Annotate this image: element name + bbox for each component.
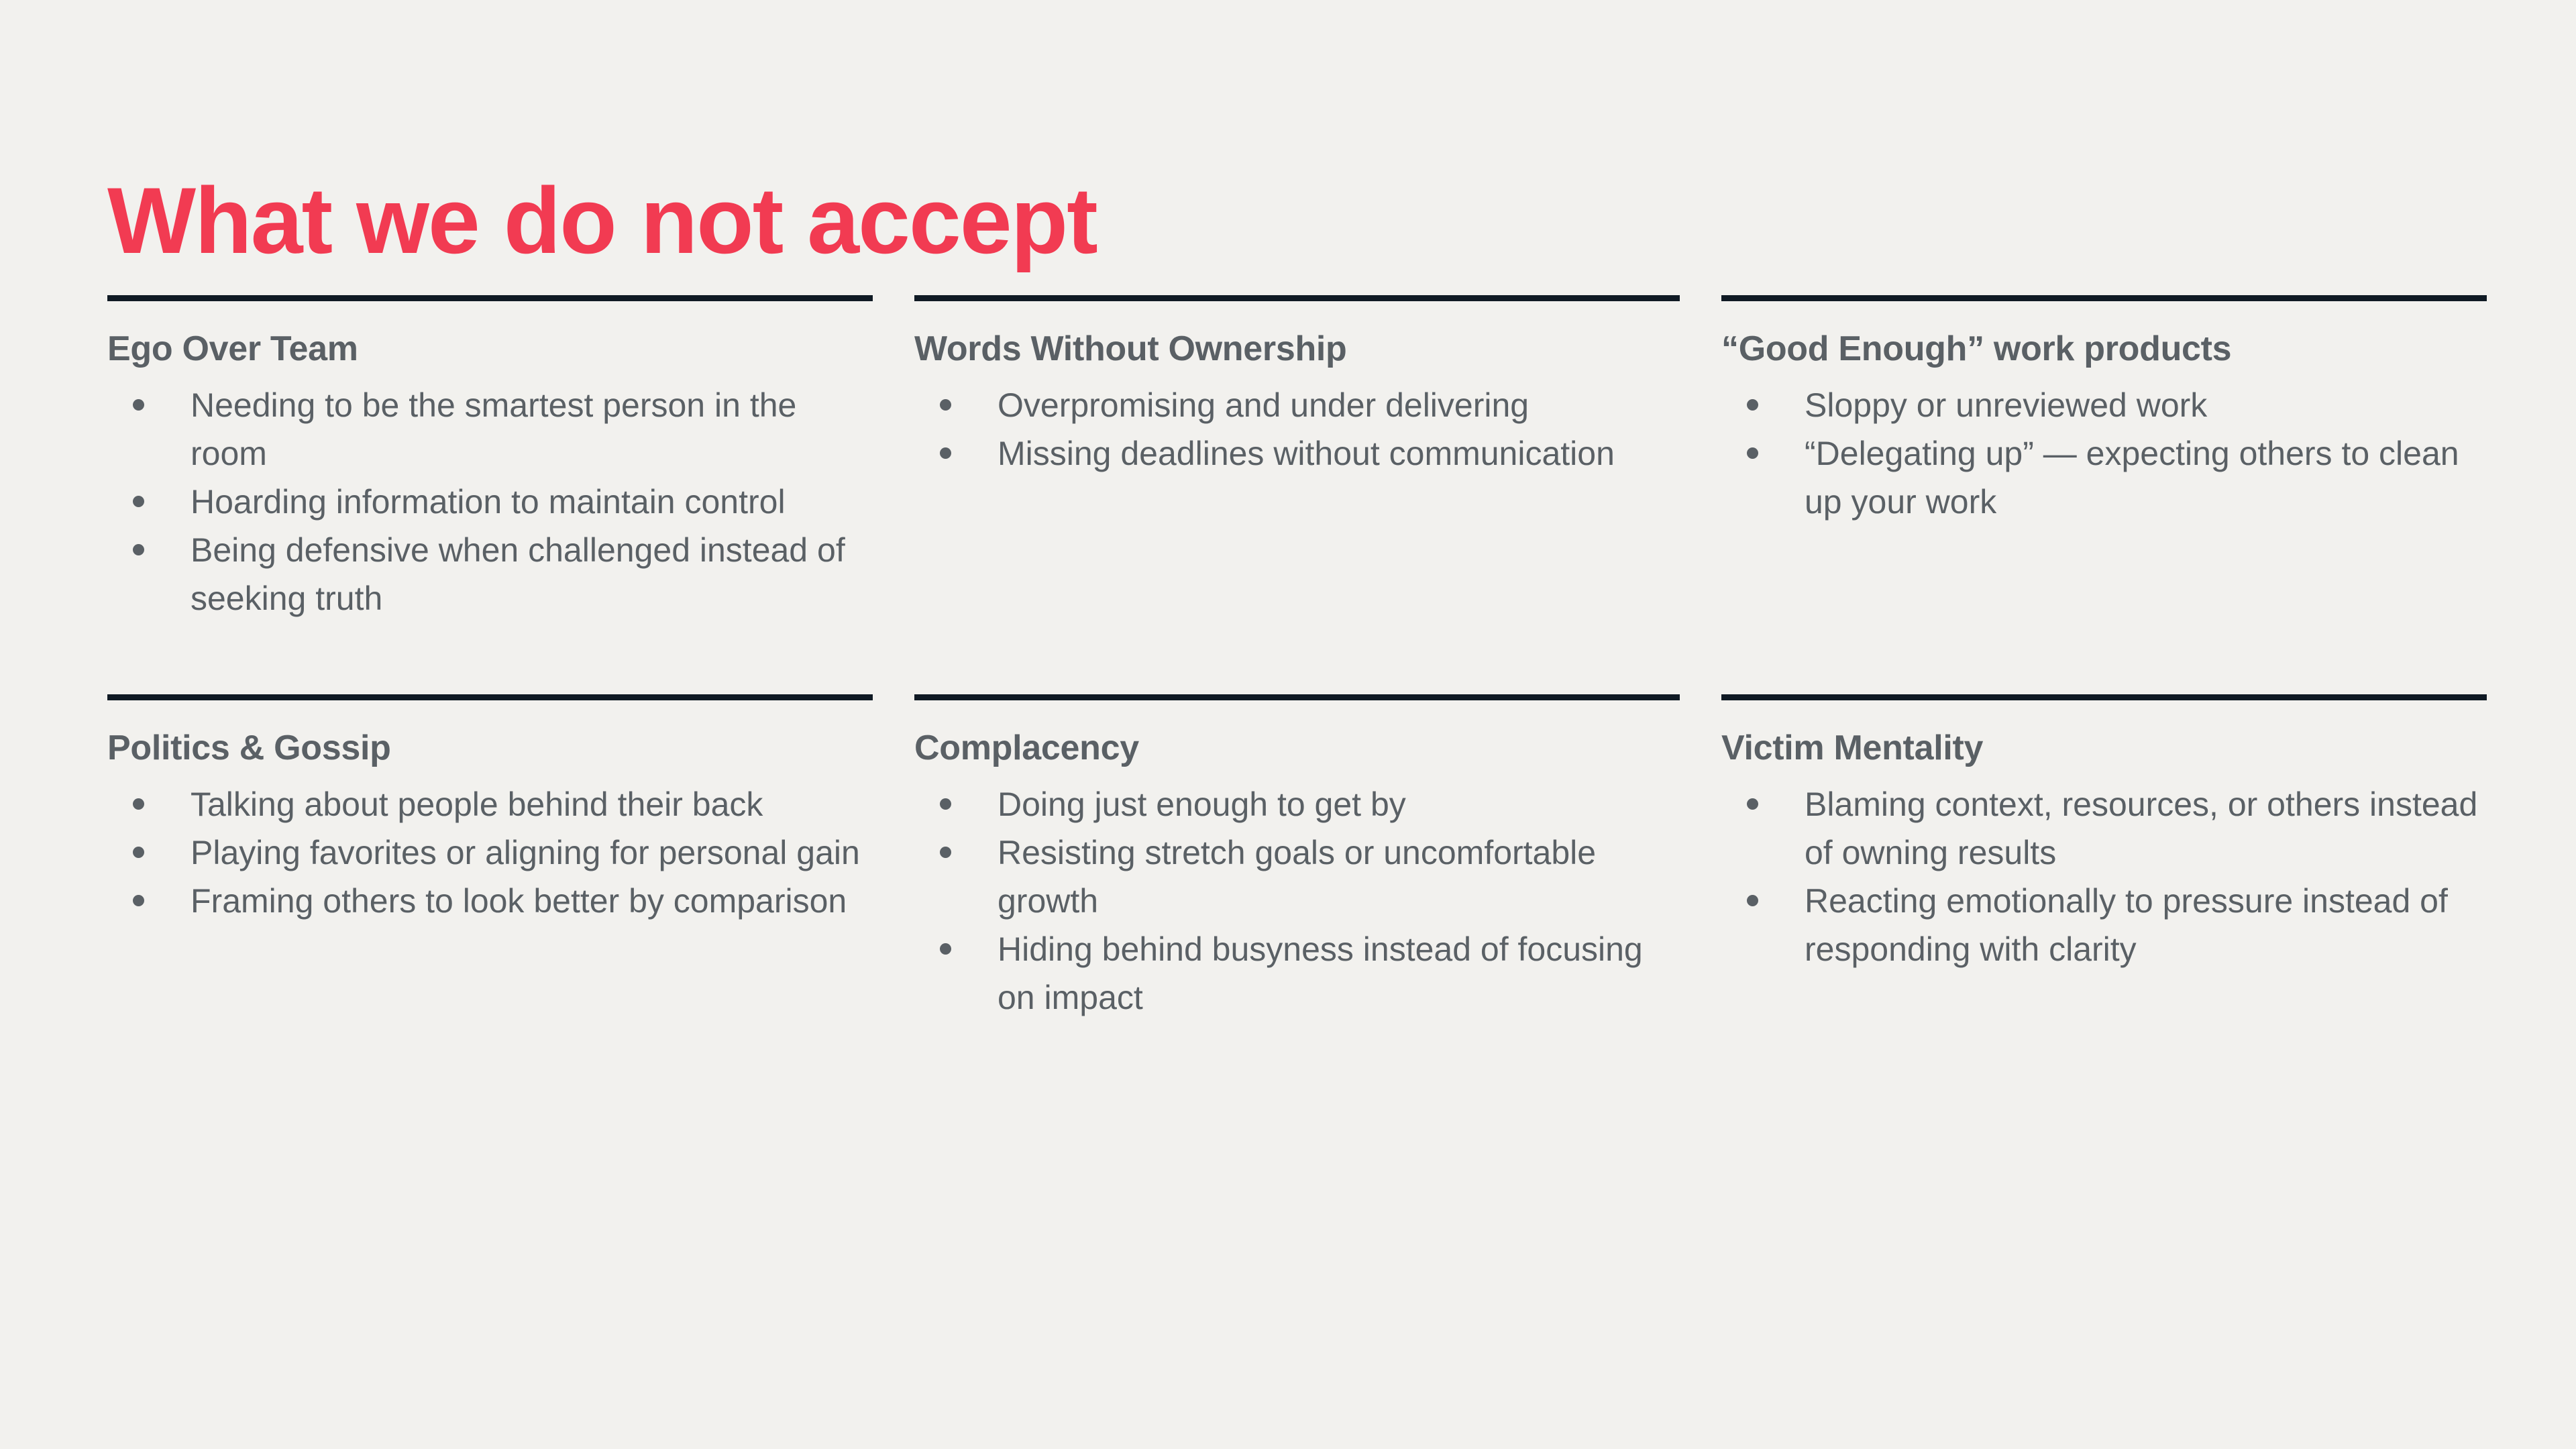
bullet-list: Overpromising and under delivering Missi… (914, 381, 1680, 478)
bullet-list: Needing to be the smartest person in the… (107, 381, 873, 623)
card-rule (914, 295, 1680, 301)
bullet-dot-icon (133, 895, 144, 906)
bullet-dot-icon (133, 847, 144, 858)
bullet-dot-icon (133, 544, 144, 555)
list-item: Doing just enough to get by (914, 780, 1680, 828)
list-item-text: Playing favorites or aligning for person… (191, 834, 860, 871)
list-item-text: Reacting emotionally to pressure instead… (1805, 882, 2448, 968)
slide-root: What we do not accept Ego Over Team Need… (0, 0, 2576, 1449)
list-item: Hoarding information to maintain control (107, 478, 873, 526)
page-title: What we do not accept (107, 174, 1097, 268)
card-heading: Words Without Ownership (914, 331, 1680, 368)
bullet-list: Talking about people behind their back P… (107, 780, 873, 925)
list-item: Needing to be the smartest person in the… (107, 381, 873, 478)
list-item: Missing deadlines without communication (914, 429, 1680, 478)
list-item: Blaming context, resources, or others in… (1721, 780, 2487, 877)
bullet-list: Blaming context, resources, or others in… (1721, 780, 2487, 973)
card-complacency: Complacency Doing just enough to get by … (914, 694, 1680, 1022)
card-victim-mentality: Victim Mentality Blaming context, resour… (1721, 694, 2487, 1022)
card-heading: “Good Enough” work products (1721, 331, 2487, 368)
card-ego-over-team: Ego Over Team Needing to be the smartest… (107, 295, 873, 623)
list-item-text: “Delegating up” — expecting others to cl… (1805, 435, 2459, 521)
bullet-list: Sloppy or unreviewed work “Delegating up… (1721, 381, 2487, 526)
list-item-text: Overpromising and under delivering (998, 386, 1529, 424)
bullet-dot-icon (1747, 798, 1758, 810)
card-good-enough-work-products: “Good Enough” work products Sloppy or un… (1721, 295, 2487, 623)
card-rule (107, 295, 873, 301)
bullet-dot-icon (940, 399, 951, 411)
bullet-dot-icon (133, 798, 144, 810)
list-item-text: Needing to be the smartest person in the… (191, 386, 796, 472)
bullet-dot-icon (133, 496, 144, 507)
bullet-dot-icon (1747, 895, 1758, 906)
card-rule (107, 694, 873, 700)
list-item-text: Talking about people behind their back (191, 786, 763, 823)
list-item: Playing favorites or aligning for person… (107, 828, 873, 877)
list-item: Framing others to look better by compari… (107, 877, 873, 925)
list-item-text: Hoarding information to maintain control (191, 483, 786, 521)
card-heading: Complacency (914, 730, 1680, 767)
list-item-text: Being defensive when challenged instead … (191, 531, 845, 617)
list-item-text: Blaming context, resources, or others in… (1805, 786, 2477, 871)
list-item: Overpromising and under delivering (914, 381, 1680, 429)
list-item: Talking about people behind their back (107, 780, 873, 828)
list-item-text: Sloppy or unreviewed work (1805, 386, 2207, 424)
list-item: Being defensive when challenged instead … (107, 526, 873, 623)
list-item-text: Resisting stretch goals or uncomfortable… (998, 834, 1596, 920)
bullet-dot-icon (940, 798, 951, 810)
bullet-dot-icon (133, 399, 144, 411)
card-politics-and-gossip: Politics & Gossip Talking about people b… (107, 694, 873, 1022)
list-item: Sloppy or unreviewed work (1721, 381, 2487, 429)
card-heading: Politics & Gossip (107, 730, 873, 767)
list-item-text: Framing others to look better by compari… (191, 882, 847, 920)
list-item-text: Doing just enough to get by (998, 786, 1406, 823)
bullet-dot-icon (1747, 399, 1758, 411)
card-heading: Victim Mentality (1721, 730, 2487, 767)
list-item-text: Missing deadlines without communication (998, 435, 1615, 472)
card-rule (1721, 295, 2487, 301)
list-item-text: Hiding behind busyness instead of focusi… (998, 930, 1643, 1016)
list-item: Resisting stretch goals or uncomfortable… (914, 828, 1680, 925)
bullet-dot-icon (940, 943, 951, 955)
bullet-dot-icon (940, 447, 951, 459)
card-words-without-ownership: Words Without Ownership Overpromising an… (914, 295, 1680, 623)
list-item: Hiding behind busyness instead of focusi… (914, 925, 1680, 1022)
bullet-dot-icon (1747, 447, 1758, 459)
bullet-dot-icon (940, 847, 951, 858)
list-item: “Delegating up” — expecting others to cl… (1721, 429, 2487, 526)
values-grid: Ego Over Team Needing to be the smartest… (107, 295, 2485, 1022)
card-rule (1721, 694, 2487, 700)
card-heading: Ego Over Team (107, 331, 873, 368)
list-item: Reacting emotionally to pressure instead… (1721, 877, 2487, 973)
bullet-list: Doing just enough to get by Resisting st… (914, 780, 1680, 1022)
card-rule (914, 694, 1680, 700)
